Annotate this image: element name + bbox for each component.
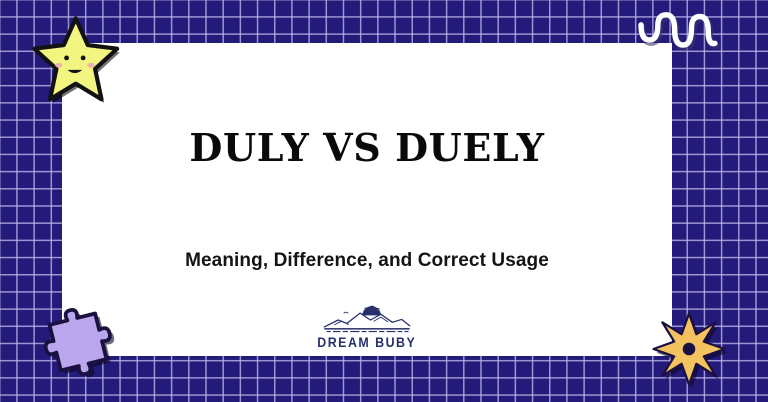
mountain-sun-landscape-icon [319, 305, 415, 335]
logo-wordmark: DREAM BUBY [318, 336, 417, 350]
puzzle-piece-sticker [36, 300, 120, 384]
brand-logo: DREAM BUBY [292, 305, 442, 350]
sunburst-star-sticker [652, 312, 726, 386]
page-title: DULY VS DUELY [62, 129, 672, 167]
squiggle-line-sticker [636, 18, 720, 62]
page-subtitle: Meaning, Difference, and Correct Usage [62, 251, 672, 270]
thumbnail-canvas: DULY VS DUELY Meaning, Difference, and C… [0, 0, 768, 402]
content-card: DULY VS DUELY Meaning, Difference, and C… [62, 43, 672, 356]
smiling-star-sticker [27, 11, 119, 103]
